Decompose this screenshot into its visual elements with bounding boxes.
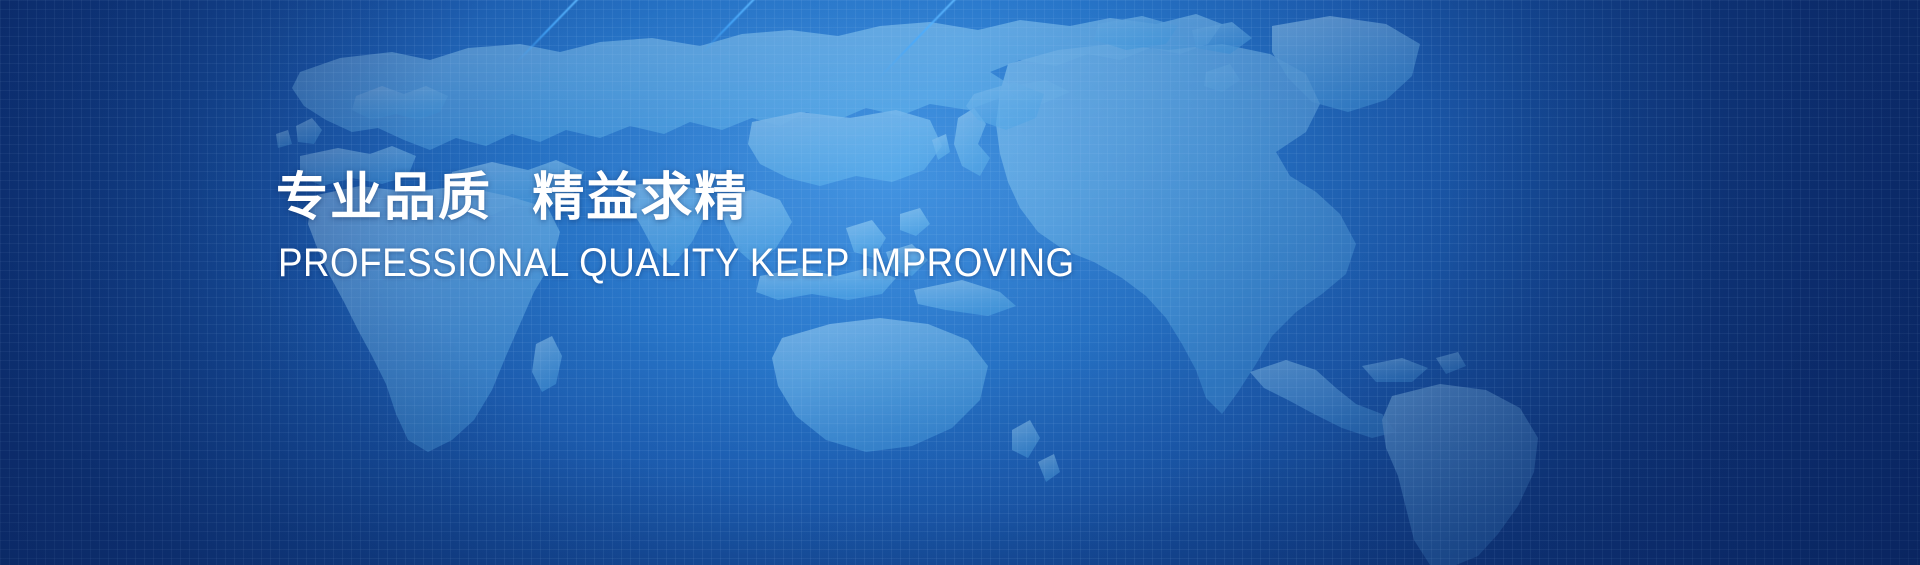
diagonal-light-streak-icon: [877, 0, 1087, 80]
company-slogan-hero-banner: 专业品质 精益求精 PROFESSIONAL QUALITY KEEP IMPR…: [0, 0, 1920, 565]
slogan-text-block: 专业品质 精益求精 PROFESSIONAL QUALITY KEEP IMPR…: [276, 168, 1176, 286]
headline-chinese: 专业品质 精益求精: [276, 168, 1176, 229]
diagonal-light-streak-icon: [701, 0, 854, 54]
subheadline-english: PROFESSIONAL QUALITY KEEP IMPROVING: [278, 241, 1104, 286]
diagonal-light-streak-icon: [515, 0, 696, 64]
